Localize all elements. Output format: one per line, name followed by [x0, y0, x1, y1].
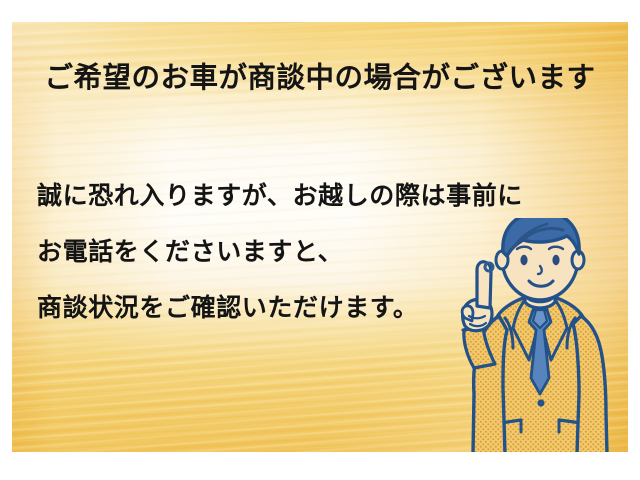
eye-right	[552, 255, 559, 265]
eye-left	[520, 255, 527, 265]
body-line-1: 誠に恐れ入りますが、お越しの際は事前に	[37, 168, 607, 224]
businessman-body-group	[462, 218, 607, 452]
jacket-button	[537, 399, 544, 406]
headline-text: ご希望のお車が商談中の場合がございます	[12, 64, 628, 93]
gold-gradient-panel: ご希望のお車が商談中の場合がございます 誠に恐れ入りますが、お越しの際は事前に …	[12, 22, 628, 452]
arm-right-sleeve	[573, 316, 607, 452]
businessman-illustration	[437, 218, 628, 452]
banner-screenshot: ご希望のお車が商談中の場合がございます 誠に恐れ入りますが、お越しの際は事前に …	[0, 0, 640, 480]
